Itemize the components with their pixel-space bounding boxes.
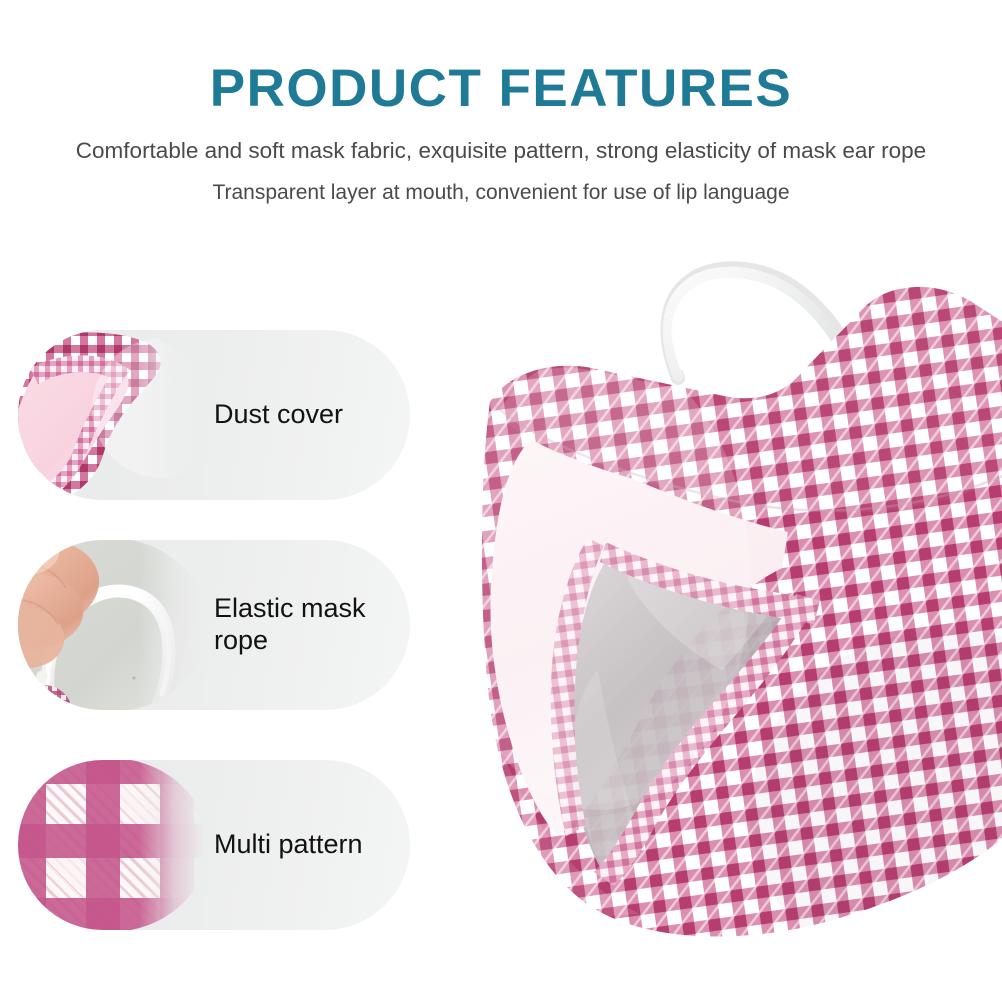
feature-pill-multi-pattern[interactable]: Multi pattern	[18, 760, 410, 930]
pink-gingham-face-mask-illustration	[430, 250, 1002, 950]
fingers-and-ear-loop-illustration	[18, 540, 203, 710]
feature-label-elastic-rope-line-2: rope	[214, 625, 404, 657]
feature-label-elastic-rope: Elastic mask rope	[214, 593, 404, 657]
subtitle-line-1: Comfortable and soft mask fabric, exquis…	[0, 140, 1002, 163]
folded-gingham-mask-photo	[18, 330, 203, 500]
feature-pill-elastic-rope[interactable]: Elastic mask rope	[18, 540, 410, 710]
pink-plaid-fabric-closeup-photo	[18, 760, 203, 930]
product-photo	[430, 250, 1002, 950]
feature-label-dust-cover: Dust cover	[214, 399, 404, 431]
product-features-infographic: PRODUCT FEATURES Comfortable and soft ma…	[0, 0, 1002, 1002]
feature-label-elastic-rope-line-1: Elastic mask	[214, 593, 404, 625]
page-title: PRODUCT FEATURES	[0, 62, 1002, 115]
feature-label-multi-pattern: Multi pattern	[214, 829, 404, 861]
fingers-stretching-ear-loop-photo	[18, 540, 203, 710]
header: PRODUCT FEATURES Comfortable and soft ma…	[0, 0, 1002, 230]
subtitle-line-2: Transparent layer at mouth, convenient f…	[0, 182, 1002, 203]
feature-pill-dust-cover[interactable]: Dust cover	[18, 330, 410, 500]
folded-mask-illustration	[18, 330, 203, 500]
